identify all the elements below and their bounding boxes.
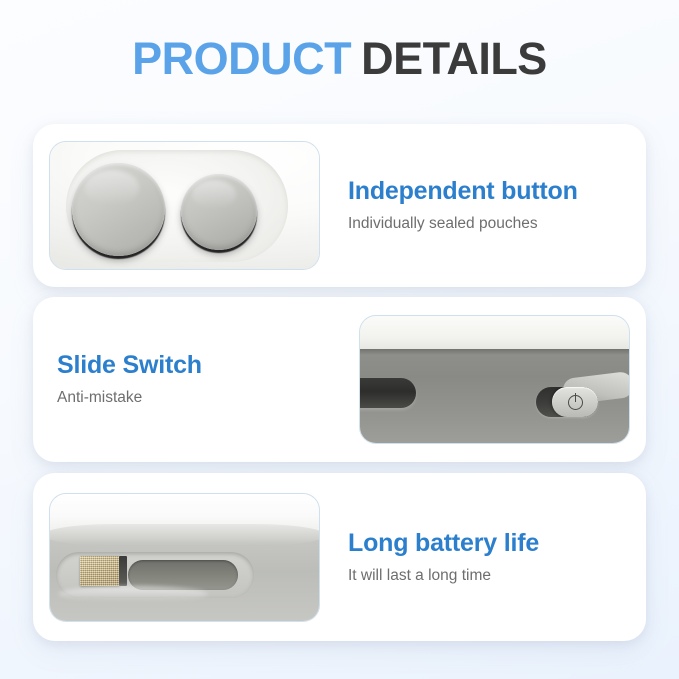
- feature-subtext: Individually sealed pouches: [348, 215, 630, 234]
- battery-metal-contact: [80, 556, 120, 586]
- page-title-secondary: DETAILS: [361, 33, 547, 84]
- feature-heading: Long battery life: [348, 529, 630, 558]
- feature-text-independent-button: Independent button Individually sealed p…: [336, 177, 646, 233]
- feature-heading: Slide Switch: [57, 351, 331, 380]
- product-details-page: PRODUCTDETAILS Independent button Indivi…: [0, 0, 679, 679]
- feature-subtext: It will last a long time: [348, 567, 630, 586]
- page-title-primary: PRODUCT: [132, 33, 351, 84]
- feature-card-independent-button: Independent button Individually sealed p…: [33, 124, 646, 287]
- feature-text-long-battery-life: Long battery life It will last a long ti…: [336, 529, 646, 585]
- product-image-independent-button: [49, 141, 320, 270]
- device-top-shell: [360, 316, 629, 352]
- feature-heading: Independent button: [348, 177, 630, 206]
- power-icon: [568, 395, 583, 410]
- round-button-small-icon: [181, 174, 257, 250]
- round-button-large-icon: [72, 163, 165, 256]
- feature-text-slide-switch: Slide Switch Anti-mistake: [33, 351, 343, 407]
- page-title: PRODUCTDETAILS: [0, 36, 679, 81]
- feature-card-slide-switch: Slide Switch Anti-mistake: [33, 297, 646, 462]
- device-slot: [359, 378, 416, 408]
- device-shell-lip: [49, 524, 320, 546]
- slide-switch-knob: [552, 387, 598, 417]
- product-image-battery-contact: [49, 493, 320, 622]
- page-title-text: PRODUCTDETAILS: [132, 36, 547, 81]
- product-image-slide-switch: [359, 315, 630, 444]
- feature-card-long-battery-life: Long battery life It will last a long ti…: [33, 473, 646, 641]
- feature-subtext: Anti-mistake: [57, 389, 331, 408]
- slide-switch: [536, 387, 598, 417]
- device-slot: [128, 560, 238, 590]
- power-icon-bar: [575, 393, 577, 402]
- surface-glare: [58, 586, 208, 602]
